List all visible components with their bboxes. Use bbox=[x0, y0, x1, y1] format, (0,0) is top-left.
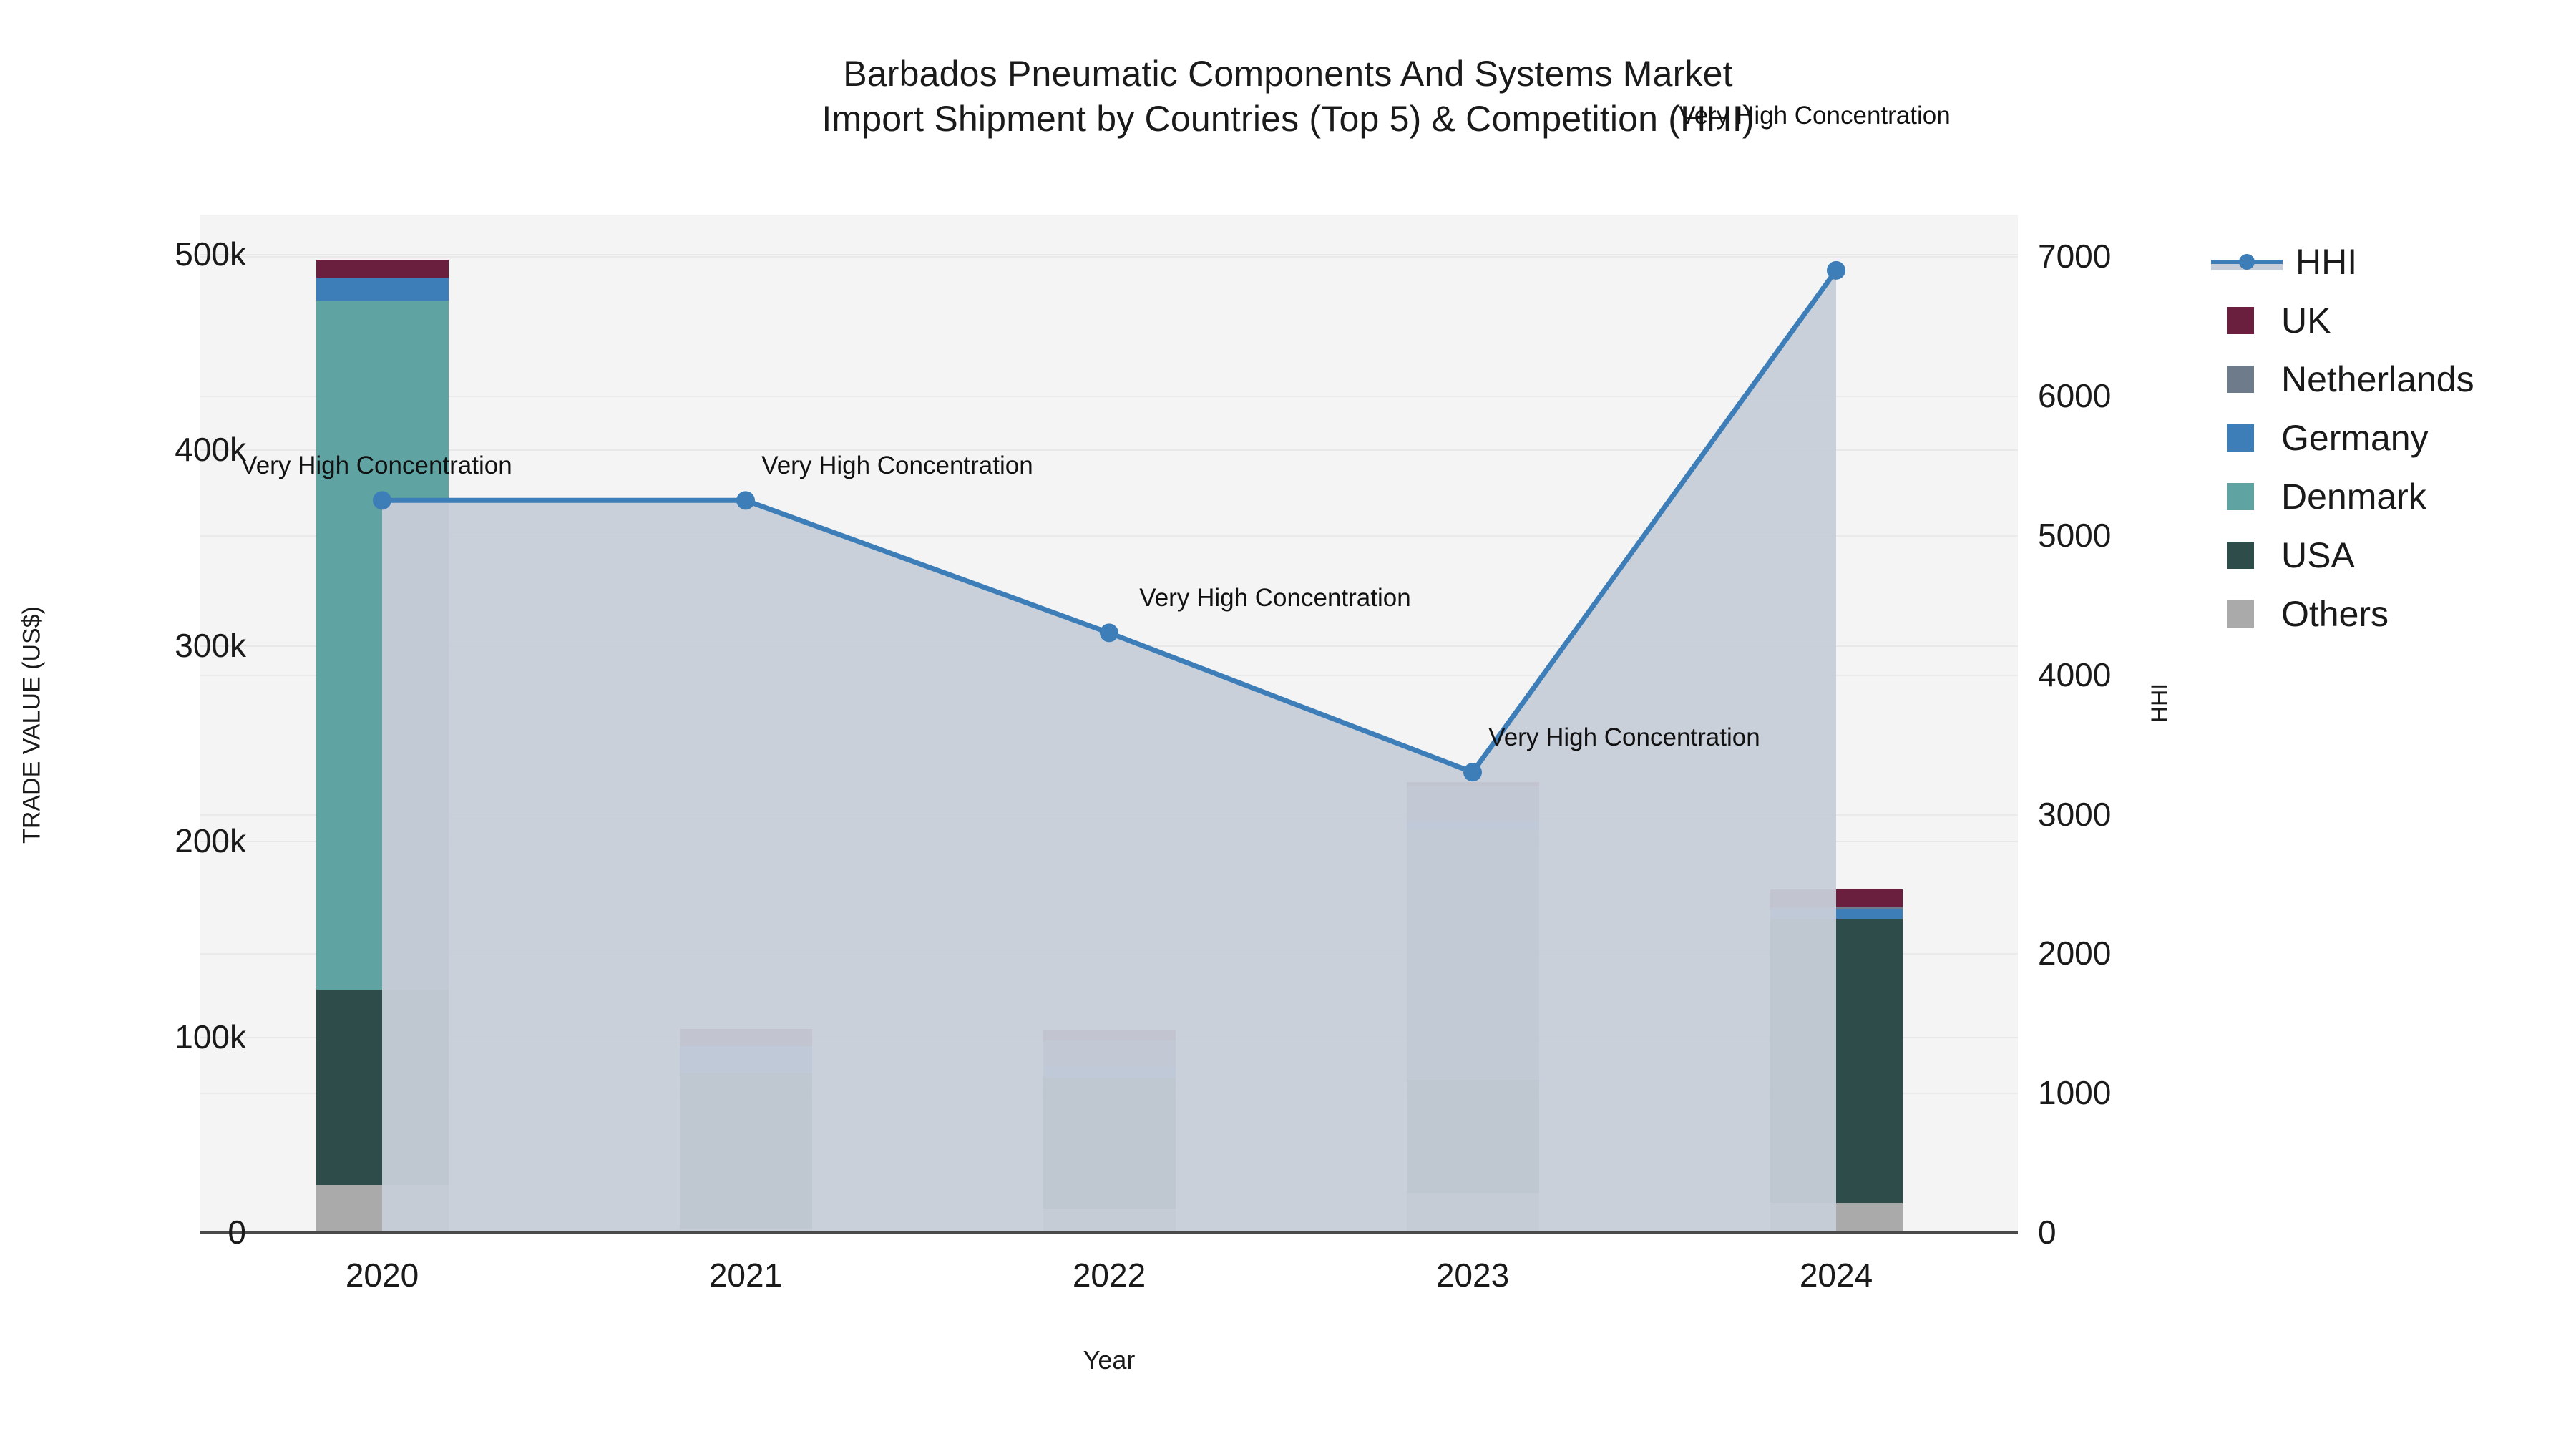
x-tick-label-2020: 2020 bbox=[275, 1256, 489, 1294]
annotation-2022: Very High Concentration bbox=[1139, 584, 1410, 613]
legend-label: UK bbox=[2281, 303, 2331, 338]
legend-item-germany[interactable]: Germany bbox=[2211, 409, 2569, 467]
legend-swatch-netherlands bbox=[2227, 366, 2254, 393]
legend-item-hhi[interactable]: HHI bbox=[2211, 233, 2569, 291]
x-tick-label-2021: 2021 bbox=[638, 1256, 853, 1294]
hhi-point-2024[interactable] bbox=[1827, 261, 1845, 280]
legend-label: USA bbox=[2281, 537, 2355, 573]
legend-swatch-usa bbox=[2227, 542, 2254, 569]
legend-item-others[interactable]: Others bbox=[2211, 585, 2569, 643]
legend-label: Denmark bbox=[2281, 479, 2426, 514]
y-tick-label: 100k bbox=[31, 1018, 246, 1056]
y-axis-title: TRADE VALUE (US$) bbox=[19, 439, 47, 1011]
x-tick-label-2022: 2022 bbox=[1002, 1256, 1216, 1294]
hhi-point-2020[interactable] bbox=[373, 491, 391, 509]
hhi-point-2022[interactable] bbox=[1100, 623, 1118, 642]
y-tick-label: 400k bbox=[31, 430, 246, 469]
annotation-2024: Very High Concentration bbox=[1679, 102, 1950, 130]
legend-swatch-denmark bbox=[2227, 483, 2254, 510]
annotation-2021: Very High Concentration bbox=[761, 452, 1033, 480]
annotation-2020: Very High Concentration bbox=[240, 452, 512, 480]
y2-tick-label: 2000 bbox=[2038, 934, 2253, 972]
legend-label: Germany bbox=[2281, 420, 2429, 456]
legend-dot-icon bbox=[2239, 254, 2255, 270]
y-tick-label: 200k bbox=[31, 821, 246, 860]
legend-label: HHI bbox=[2296, 244, 2357, 280]
y2-tick-label: 4000 bbox=[2038, 655, 2253, 694]
y-tick-label: 500k bbox=[31, 235, 246, 273]
legend-item-netherlands[interactable]: Netherlands bbox=[2211, 350, 2569, 409]
legend-label: Others bbox=[2281, 596, 2389, 632]
legend-item-usa[interactable]: USA bbox=[2211, 526, 2569, 585]
chart-figure: Barbados Pneumatic Components And System… bbox=[0, 0, 2576, 1449]
y2-tick-label: 1000 bbox=[2038, 1073, 2253, 1112]
legend: HHIUKNetherlandsGermanyDenmarkUSAOthers bbox=[2211, 233, 2569, 643]
x-tick-label-2023: 2023 bbox=[1365, 1256, 1580, 1294]
y-tick-label: 0 bbox=[31, 1213, 246, 1252]
legend-swatch-germany bbox=[2227, 424, 2254, 452]
x-tick-label-2024: 2024 bbox=[1729, 1256, 1943, 1294]
hhi-point-2023[interactable] bbox=[1463, 763, 1482, 781]
annotation-2023: Very High Concentration bbox=[1488, 723, 1760, 752]
chart-title: Barbados Pneumatic Components And System… bbox=[0, 52, 2576, 142]
y-tick-label: 300k bbox=[31, 626, 246, 665]
hhi-point-2021[interactable] bbox=[736, 491, 755, 509]
legend-item-denmark[interactable]: Denmark bbox=[2211, 467, 2569, 526]
y2-tick-label: 0 bbox=[2038, 1213, 2253, 1252]
legend-label: Netherlands bbox=[2281, 361, 2474, 397]
legend-swatch-uk bbox=[2227, 307, 2254, 334]
legend-swatch-others bbox=[2227, 600, 2254, 628]
y2-tick-label: 3000 bbox=[2038, 795, 2253, 834]
x-axis-spine bbox=[200, 1231, 2018, 1234]
y2-axis-title: HHI bbox=[2147, 683, 2173, 723]
x-axis-title: Year bbox=[200, 1345, 2018, 1375]
legend-item-uk[interactable]: UK bbox=[2211, 291, 2569, 350]
legend-line-marker-icon bbox=[2211, 248, 2283, 275]
